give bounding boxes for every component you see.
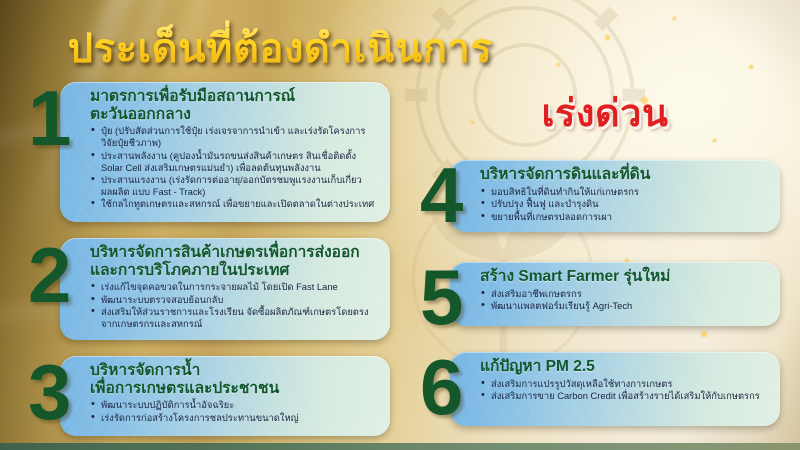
bullet-item: มอบสิทธิในที่ดินทำกินให้แก่เกษตรกร: [480, 186, 768, 198]
bullet-item: ส่งเสริมการแปรรูปวัสดุเหลือใช้ทางการเกษต…: [480, 378, 768, 390]
item-card-2[interactable]: บริหารจัดการสินค้าเกษตรเพื่อการส่งออกและ…: [60, 238, 390, 340]
item-title-1: มาตรการเพื่อรับมือสถานการณ์ตะวันออกกลาง: [90, 88, 378, 123]
bullet-item: พัฒนาแพลตฟอร์มเรียนรู้ Agri-Tech: [480, 300, 768, 312]
bullet-item: ประสานแรงงาน (เร่งรัดการต่ออายุ/ออกบัตรช…: [90, 174, 378, 198]
item-card-3[interactable]: บริหารจัดการน้ำเพื่อการเกษตรและประชาชน พ…: [60, 356, 390, 436]
sparkle: [700, 330, 708, 338]
bullet-item: ส่งเสริมให้ส่วนราชการและโรงเรียน จัดซื้อ…: [90, 306, 378, 330]
item-bullets-4: มอบสิทธิในที่ดินทำกินให้แก่เกษตรกรปรับปร…: [480, 186, 768, 223]
item-title-4: บริหารจัดการดินและที่ดิน: [480, 166, 768, 184]
item-bullets-2: เร่งแก้ไขจุดคอขวดในการกระจายผลไม้ โดยเปิ…: [90, 281, 378, 330]
item-card-4[interactable]: บริหารจัดการดินและที่ดิน มอบสิทธิในที่ดิ…: [450, 160, 780, 232]
item-title-2: บริหารจัดการสินค้าเกษตรเพื่อการส่งออกและ…: [90, 244, 378, 279]
bullet-item: พัฒนาระบบตรวจสอบย้อนกลับ: [90, 294, 378, 306]
item-title-3: บริหารจัดการน้ำเพื่อการเกษตรและประชาชน: [90, 362, 378, 397]
item-card-1[interactable]: มาตรการเพื่อรับมือสถานการณ์ตะวันออกกลาง …: [60, 82, 390, 222]
bullet-item: ส่งเสริมอาชีพเกษตรกร: [480, 288, 768, 300]
item-bullets-3: พัฒนาระบบปฏิบัติการน้ำอัจฉริยะเร่งรัดการ…: [90, 399, 378, 423]
bullet-item: ประสานพลังงาน (คูปองน้ำมันรถขนส่งสินค้าเ…: [90, 150, 378, 174]
item-card-5[interactable]: สร้าง Smart Farmer รุ่นใหม่ ส่งเสริมอาชี…: [450, 262, 780, 326]
page-subtitle: เร่งด่วน: [440, 82, 770, 143]
bullet-item: ขยายพื้นที่เกษตรปลอดการเผา: [480, 211, 768, 223]
infographic-poster: ประเด็นที่ต้องดำเนินการ เร่งด่วน มาตรการ…: [0, 0, 800, 450]
bullet-item: พัฒนาระบบปฏิบัติการน้ำอัจฉริยะ: [90, 399, 378, 411]
item-card-6[interactable]: แก้ปัญหา PM 2.5 ส่งเสริมการแปรรูปวัสดุเห…: [450, 352, 780, 426]
bullet-item: ปุ๋ย (ปรับสัดส่วนการใช้ปุ๋ย เร่งเจรจาการ…: [90, 125, 378, 149]
item-bullets-1: ปุ๋ย (ปรับสัดส่วนการใช้ปุ๋ย เร่งเจรจาการ…: [90, 125, 378, 210]
item-title-5: สร้าง Smart Farmer รุ่นใหม่: [480, 268, 768, 286]
sparkle: [604, 34, 611, 41]
item-bullets-5: ส่งเสริมอาชีพเกษตรกรพัฒนาแพลตฟอร์มเรียนร…: [480, 288, 768, 312]
bullet-item: ปรับปรุง ฟื้นฟู และบำรุงดิน: [480, 198, 768, 210]
sparkle: [748, 64, 754, 70]
item-bullets-6: ส่งเสริมการแปรรูปวัสดุเหลือใช้ทางการเกษต…: [480, 378, 768, 402]
item-title-6: แก้ปัญหา PM 2.5: [480, 358, 768, 376]
bottom-accent-strip: [0, 443, 800, 450]
bullet-item: ส่งเสริมการขาย Carbon Credit เพื่อสร้างร…: [480, 390, 768, 402]
bullet-item: ใช้กลไกทูตเกษตรและสหกรณ์ เพื่อขยายและเปิ…: [90, 198, 378, 210]
bullet-item: เร่งรัดการก่อสร้างโครงการชลประทานขนาดใหญ…: [90, 412, 378, 424]
page-title: ประเด็นที่ต้องดำเนินการ: [0, 16, 560, 80]
sparkle: [672, 16, 677, 21]
bullet-item: เร่งแก้ไขจุดคอขวดในการกระจายผลไม้ โดยเปิ…: [90, 281, 378, 293]
